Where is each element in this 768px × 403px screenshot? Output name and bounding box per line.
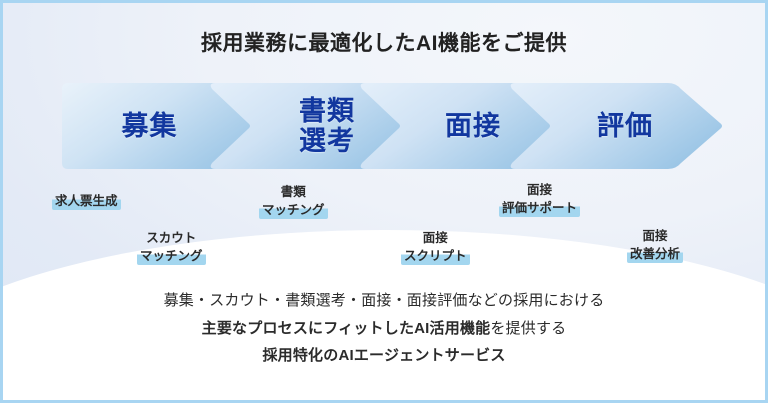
feature-label-line2: 改善分析	[627, 245, 683, 263]
feature-job-posting-generation: 求人票生成	[52, 192, 121, 210]
summary-line-3: 採用特化のAIエージェントサービス	[3, 342, 765, 370]
feature-label-line1: スカウト	[137, 229, 206, 247]
process-step-label: 評価	[597, 111, 653, 141]
feature-label-line1: 面接	[499, 181, 580, 199]
summary-line-2-normal: を提供する	[490, 320, 566, 337]
feature-interview-improvement: 面接 改善分析	[627, 227, 683, 263]
step-label-line2: 選考	[299, 126, 355, 156]
feature-interview-eval-support: 面接 評価サポート	[499, 181, 580, 217]
feature-label-line1: 求人票生成	[52, 192, 121, 210]
summary-line-1: 募集・スカウト・書類選考・面接・面接評価などの採用における	[3, 287, 765, 315]
process-step-evaluation[interactable]: 評価	[508, 79, 726, 173]
summary-line-2-strong: 主要なプロセスにフィットしたAI活用機能	[202, 320, 491, 337]
process-step-label: 面接	[445, 111, 501, 141]
feature-scout-matching: スカウト マッチング	[137, 229, 206, 265]
feature-label-line2: マッチング	[137, 247, 206, 265]
page-title: 採用業務に最適化したAI機能をご提供	[3, 27, 765, 57]
feature-label-line2: 評価サポート	[499, 199, 580, 217]
ai-recruitment-infographic: 採用業務に最適化したAI機能をご提供 募集	[0, 0, 768, 403]
process-step-label: 書類 選考	[299, 96, 355, 156]
step-label-line1: 募集	[122, 111, 178, 141]
process-step-label: 募集	[122, 111, 178, 141]
step-label-line1: 書類	[299, 96, 355, 126]
feature-interview-script: 面接 スクリプト	[401, 229, 470, 265]
feature-label-line1: 書類	[259, 183, 328, 201]
summary-text: 募集・スカウト・書類選考・面接・面接評価などの採用における 主要なプロセスにフィ…	[3, 287, 765, 370]
feature-label-line2: スクリプト	[401, 247, 470, 265]
feature-label-line1: 面接	[401, 229, 470, 247]
feature-document-matching: 書類 マッチング	[259, 183, 328, 219]
feature-label-line1: 面接	[627, 227, 683, 245]
feature-label-line2: マッチング	[259, 201, 328, 219]
process-arrow-band: 募集 書類 選考	[3, 79, 768, 173]
summary-line-2: 主要なプロセスにフィットしたAI活用機能を提供する	[3, 315, 765, 343]
step-label-line1: 面接	[445, 111, 501, 141]
step-label-line1: 評価	[597, 111, 653, 141]
